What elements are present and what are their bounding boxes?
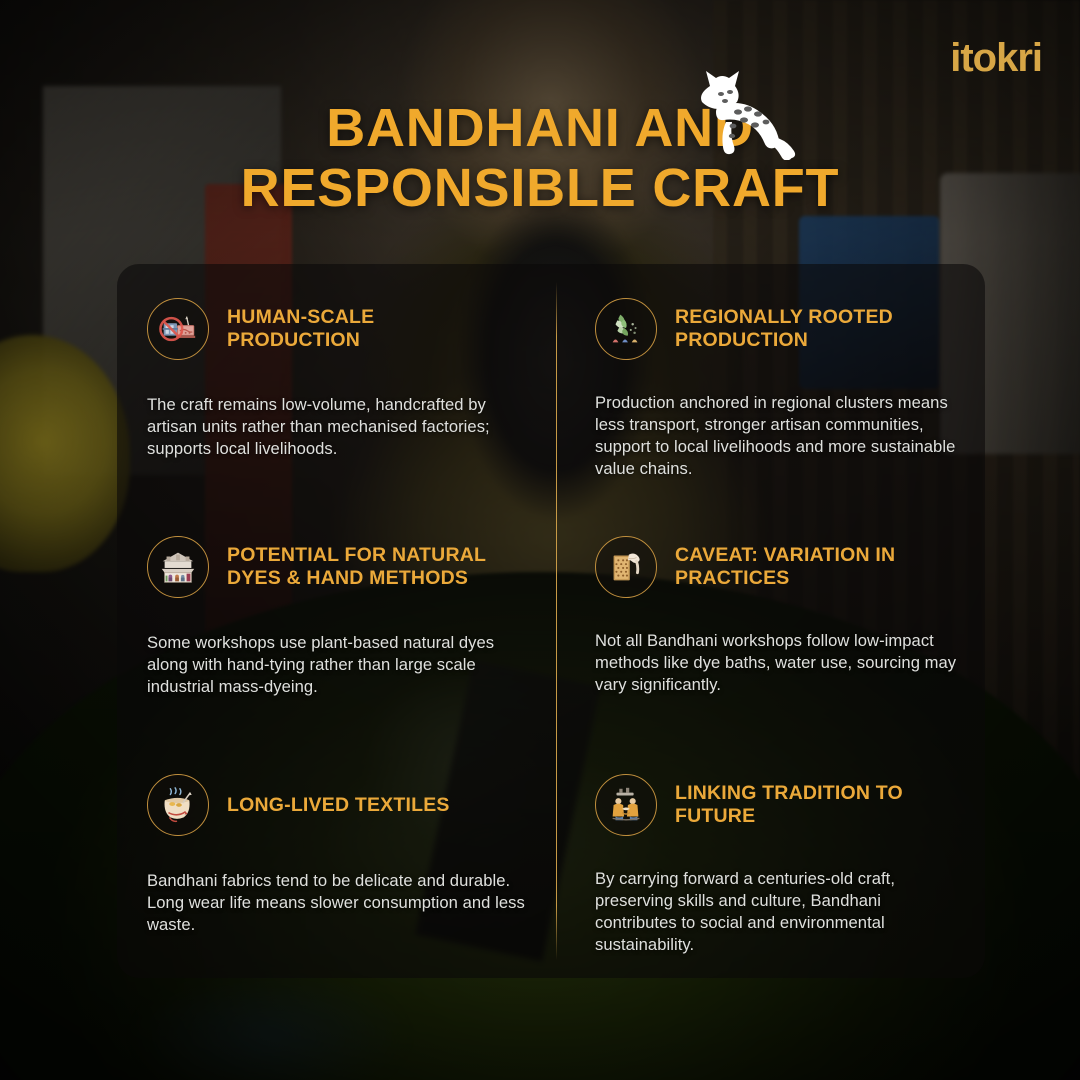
card-title: HUMAN-SCALE PRODUCTION bbox=[227, 306, 462, 352]
cards-grid: HUMAN-SCALE PRODUCTION The craft remains… bbox=[117, 264, 985, 978]
card-title: REGIONALLY ROOTED PRODUCTION bbox=[675, 306, 910, 352]
card-header: LINKING TRADITION TO FUTURE bbox=[595, 774, 967, 836]
itokri-logo[interactable]: itokri bbox=[950, 38, 1042, 78]
card-header: LONG-LIVED TEXTILES bbox=[147, 774, 525, 836]
card-long-lived-textiles: LONG-LIVED TEXTILES Bandhani fabrics ten… bbox=[117, 740, 551, 978]
card-header: CAVEAT: VARIATION IN PRACTICES bbox=[595, 536, 967, 598]
card-title: POTENTIAL FOR NATURAL DYES & HAND METHOD… bbox=[227, 544, 525, 590]
leaves-and-dye-powders-icon bbox=[595, 298, 657, 360]
card-body: Bandhani fabrics tend to be delicate and… bbox=[147, 870, 525, 936]
steaming-dye-pot-icon bbox=[147, 774, 209, 836]
card-regionally-rooted-production: REGIONALLY ROOTED PRODUCTION Production … bbox=[551, 264, 985, 502]
card-body: Some workshops use plant-based natural d… bbox=[147, 632, 525, 698]
no-factory-machine-icon bbox=[147, 298, 209, 360]
card-header: HUMAN-SCALE PRODUCTION bbox=[147, 298, 525, 360]
card-title: CAVEAT: VARIATION IN PRACTICES bbox=[675, 544, 967, 590]
card-caveat-variation-in-practices: CAVEAT: VARIATION IN PRACTICES Not all B… bbox=[551, 502, 985, 740]
card-natural-dyes-hand-methods: POTENTIAL FOR NATURAL DYES & HAND METHOD… bbox=[117, 502, 551, 740]
two-artisans-working-icon bbox=[595, 774, 657, 836]
card-body: The craft remains low-volume, handcrafte… bbox=[147, 394, 525, 460]
snow-leopard-icon bbox=[688, 56, 800, 160]
card-title: LINKING TRADITION TO FUTURE bbox=[675, 782, 967, 828]
card-header: POTENTIAL FOR NATURAL DYES & HAND METHOD… bbox=[147, 536, 525, 598]
card-body: Not all Bandhani workshops follow low-im… bbox=[595, 630, 967, 696]
itokri-logo-text: itokri bbox=[950, 36, 1042, 80]
card-title: LONG-LIVED TEXTILES bbox=[227, 794, 450, 817]
card-linking-tradition-to-future: LINKING TRADITION TO FUTURE By carrying … bbox=[551, 740, 985, 978]
card-human-scale-production: HUMAN-SCALE PRODUCTION The craft remains… bbox=[117, 264, 551, 502]
card-body: By carrying forward a centuries-old craf… bbox=[595, 868, 967, 956]
artisan-workshop-building-icon bbox=[147, 536, 209, 598]
content-panel: HUMAN-SCALE PRODUCTION The craft remains… bbox=[117, 264, 985, 978]
page-title: BANDHANI AND RESPONSIBLE CRAFT bbox=[0, 98, 1080, 219]
infographic-poster: itokri bbox=[0, 0, 1080, 1080]
card-header: REGIONALLY ROOTED PRODUCTION bbox=[595, 298, 967, 360]
page-title-line-2: RESPONSIBLE CRAFT bbox=[241, 158, 840, 218]
card-body: Production anchored in regional clusters… bbox=[595, 392, 967, 480]
hand-holding-patterned-fabric-icon bbox=[595, 536, 657, 598]
